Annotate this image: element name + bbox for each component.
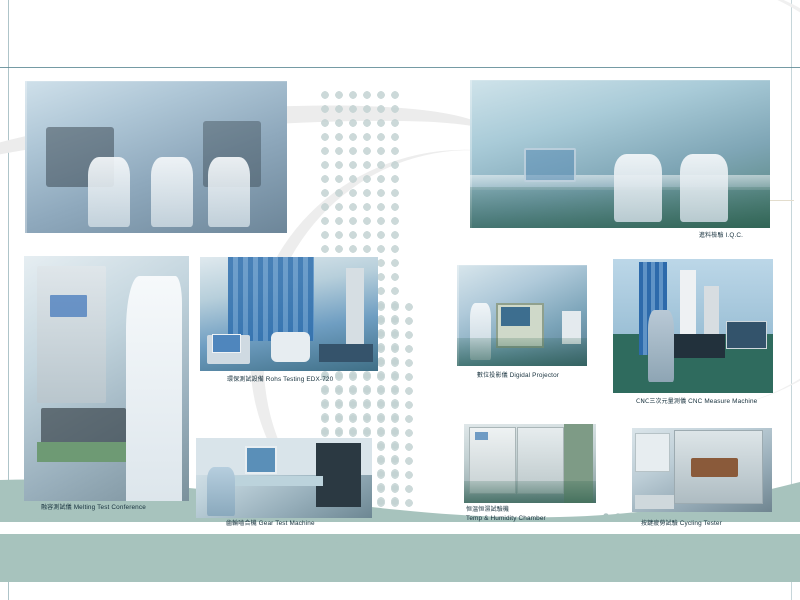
caption-zh: 融容測試儀 — [41, 504, 72, 511]
person-figure — [680, 154, 728, 222]
photo-digital-projector — [457, 265, 587, 366]
monitor-shape — [212, 334, 241, 353]
caption-rohs-testing: 環保測試設備 Rohs Testing EDX-720 — [227, 375, 333, 385]
photo-gear-test-machine — [196, 438, 372, 518]
curtain-texture — [228, 257, 313, 341]
chamber-control-panel — [475, 432, 488, 440]
monitor-shape — [524, 148, 576, 182]
photo-iqc-inspection-scene — [470, 80, 770, 228]
caption-zh: 環保測試設備 — [227, 376, 264, 383]
keyboard-shape — [635, 495, 674, 508]
caption-cycling-tester: 按鍵疲勞試驗 Cycling Tester — [641, 519, 722, 529]
photo-rohs-testing-scene — [200, 257, 378, 371]
person-figure — [207, 467, 235, 517]
caption-gear-test-machine: 齒輪嚙合機 Gear Test Machine — [226, 519, 315, 529]
photo-iqc-inspection — [470, 80, 770, 228]
caption-digital-projector: 數位投影儀 Digidal Projector — [477, 371, 559, 381]
caption-en: Temp & Humidity Chamber — [466, 514, 546, 524]
caption-en: Gear Test Machine — [259, 520, 315, 527]
person-figure — [614, 154, 662, 222]
photo-digital-projector-scene — [457, 265, 587, 366]
caption-cnc-measure-machine: CNC三次元量測儀 CNC Measure Machine — [636, 397, 757, 407]
caption-melting-test: 融容測試儀 Melting Test Conference — [41, 503, 146, 513]
person-figure — [648, 310, 674, 382]
caption-zh: 進料檢驗 — [699, 232, 724, 239]
monitor-shape — [726, 321, 766, 350]
person-lab-coat — [126, 276, 182, 501]
caption-en: Cycling Tester — [680, 520, 722, 527]
photo-cycling-tester-scene — [632, 428, 772, 512]
photo-temp-humidity-chamber — [464, 424, 596, 503]
person-figure — [208, 157, 250, 227]
floor-texture — [464, 481, 596, 503]
photo-cnc-measure-machine — [613, 259, 773, 393]
caption-iqc-inspection: 進料檢驗 I.Q.C. — [699, 231, 743, 241]
brochure-page: 進料檢驗 I.Q.C. 融容測試儀 Melting Test Conferenc… — [0, 0, 800, 600]
machine-platen — [41, 408, 127, 447]
person-figure — [88, 157, 130, 227]
caption-en: CNC Measure Machine — [688, 398, 757, 405]
caption-zh: 按鍵疲勞試驗 — [641, 520, 678, 527]
cmm-base — [674, 334, 725, 358]
photo-gear-test-machine-scene — [196, 438, 372, 518]
machine-cabinet — [37, 266, 106, 403]
person-figure — [151, 157, 193, 227]
cmm-column — [346, 268, 364, 348]
analyser-unit — [271, 332, 310, 362]
photo-rohs-testing — [200, 257, 378, 371]
photo-optical-projector-scene — [25, 81, 287, 233]
machine-display — [50, 295, 86, 317]
photo-optical-projector — [25, 81, 287, 233]
cmm-base — [319, 344, 372, 362]
monitor-shape — [245, 446, 277, 474]
caption-en: Rohs Testing EDX-720 — [266, 376, 334, 383]
caption-zh: 齒輪嚙合機 — [226, 520, 257, 527]
caption-en: Melting Test Conference — [72, 504, 146, 511]
instrument-rack — [316, 443, 362, 507]
caption-zh: 恒温恒濕試驗機 — [466, 505, 546, 514]
caption-en: Digidal Projector — [510, 372, 559, 379]
machine-table — [37, 442, 129, 462]
caption-zh: 數位投影儀 — [477, 372, 508, 379]
projector-screen — [501, 307, 530, 325]
monitor-shape — [635, 433, 671, 472]
caption-en: I.Q.C. — [725, 232, 743, 239]
caption-zh: CNC三次元量測儀 — [636, 398, 686, 405]
photo-melting-test-scene — [24, 256, 189, 501]
floor-texture — [457, 338, 587, 366]
bench-texture — [228, 476, 323, 486]
photo-temp-humidity-chamber-scene — [464, 424, 596, 503]
top-rule-divider — [0, 67, 800, 68]
photo-cnc-measure-machine-scene — [613, 259, 773, 393]
test-fixture — [691, 458, 739, 476]
caption-temp-humidity-chamber: 恒温恒濕試驗機 Temp & Humidity Chamber — [466, 505, 546, 524]
photo-cycling-tester — [632, 428, 772, 512]
photo-melting-test — [24, 256, 189, 501]
